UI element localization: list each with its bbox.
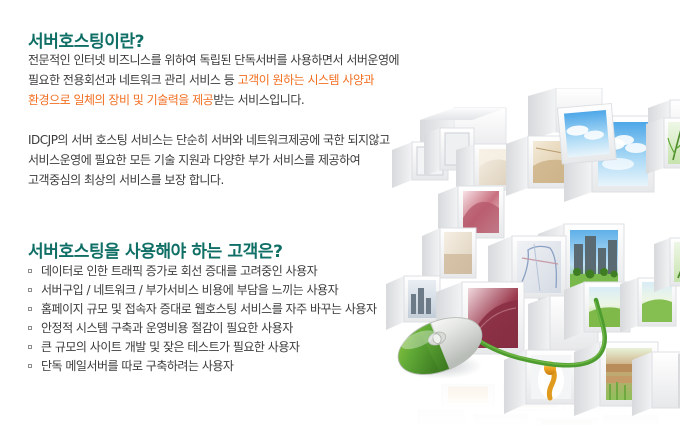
highlighted-text-segment: 환경으로 일체의 장비 및 기술력을 제공 <box>28 93 213 107</box>
highlighted-text-segment: 고객이 원하는 시스템 사양과 <box>238 73 374 87</box>
cube-wall-photo-montage-with-mouse <box>378 88 680 425</box>
list-item-label: 홈페이지 규모 및 접속자 증대로 웹호스팅 서비스를 자주 바꾸는 사용자 <box>41 302 377 316</box>
square-bullet-icon <box>28 269 32 273</box>
list-item: 홈페이지 규모 및 접속자 증대로 웹호스팅 서비스를 자주 바꾸는 사용자 <box>28 300 377 319</box>
section-title-who-should-use: 서버호스팅을 사용해야 하는 고객은? <box>28 242 283 262</box>
paragraph-line: IDCJP의 서버 호스팅 서비스는 단순히 서버와 네트워크제공에 국한 되지… <box>28 130 390 150</box>
paragraph-line: 전문적인 인터넷 비즈니스를 위하여 독립된 단독서버를 사용하면서 서버운영에 <box>28 50 399 70</box>
square-bullet-icon <box>28 364 32 368</box>
list-item-label: 서버구입 / 네트워크 / 부가서비스 비용에 부담을 느끼는 사용자 <box>41 283 338 297</box>
list-item: 단독 메일서버를 따로 구축하려는 사용자 <box>28 357 377 376</box>
intro-paragraph-1: 전문적인 인터넷 비즈니스를 위하여 독립된 단독서버를 사용하면서 서버운영에… <box>28 50 399 110</box>
text-segment: 필요한 전용회선과 네트워크 관리 서비스 등 <box>28 73 238 87</box>
list-item: 서버구입 / 네트워크 / 부가서비스 비용에 부담을 느끼는 사용자 <box>28 281 377 300</box>
list-item-label: 안정적 시스템 구축과 운영비용 절감이 필요한 사용자 <box>41 321 293 335</box>
list-item: 데이터로 인한 트래픽 증가로 회선 증대를 고려중인 사용자 <box>28 262 377 281</box>
square-bullet-icon <box>28 307 32 311</box>
list-item: 안정적 시스템 구축과 운영비용 절감이 필요한 사용자 <box>28 319 377 338</box>
page-root: 서버호스팅이란? 전문적인 인터넷 비즈니스를 위하여 독립된 단독서버를 사용… <box>0 0 680 425</box>
text-segment: 받는 서비스입니다. <box>213 93 304 107</box>
list-item-label: 단독 메일서버를 따로 구축하려는 사용자 <box>41 359 233 373</box>
target-customer-list: 데이터로 인한 트래픽 증가로 회선 증대를 고려중인 사용자 서버구입 / 네… <box>28 262 377 376</box>
square-bullet-icon <box>28 345 32 349</box>
paragraph-line: 고객중심의 최상의 서비스를 보장 합니다. <box>28 170 390 190</box>
list-item-label: 데이터로 인한 트래픽 증가로 회선 증대를 고려중인 사용자 <box>41 264 317 278</box>
paragraph-line: 환경으로 일체의 장비 및 기술력을 제공받는 서비스입니다. <box>28 90 399 110</box>
intro-paragraph-2: IDCJP의 서버 호스팅 서비스는 단순히 서버와 네트워크제공에 국한 되지… <box>28 130 390 190</box>
square-bullet-icon <box>28 326 32 330</box>
paragraph-line: 필요한 전용회선과 네트워크 관리 서비스 등 고객이 원하는 시스템 사양과 <box>28 70 399 90</box>
paragraph-line: 서비스운영에 필요한 모든 기술 지원과 다양한 부가 서비스를 제공하여 <box>28 150 390 170</box>
text-segment: 전문적인 인터넷 비즈니스를 위하여 독립된 단독서버를 사용하면서 서버운영에 <box>28 53 399 67</box>
list-item: 큰 규모의 사이트 개발 및 잦은 테스트가 필요한 사용자 <box>28 338 377 357</box>
list-item-label: 큰 규모의 사이트 개발 및 잦은 테스트가 필요한 사용자 <box>41 340 299 354</box>
square-bullet-icon <box>28 288 32 292</box>
